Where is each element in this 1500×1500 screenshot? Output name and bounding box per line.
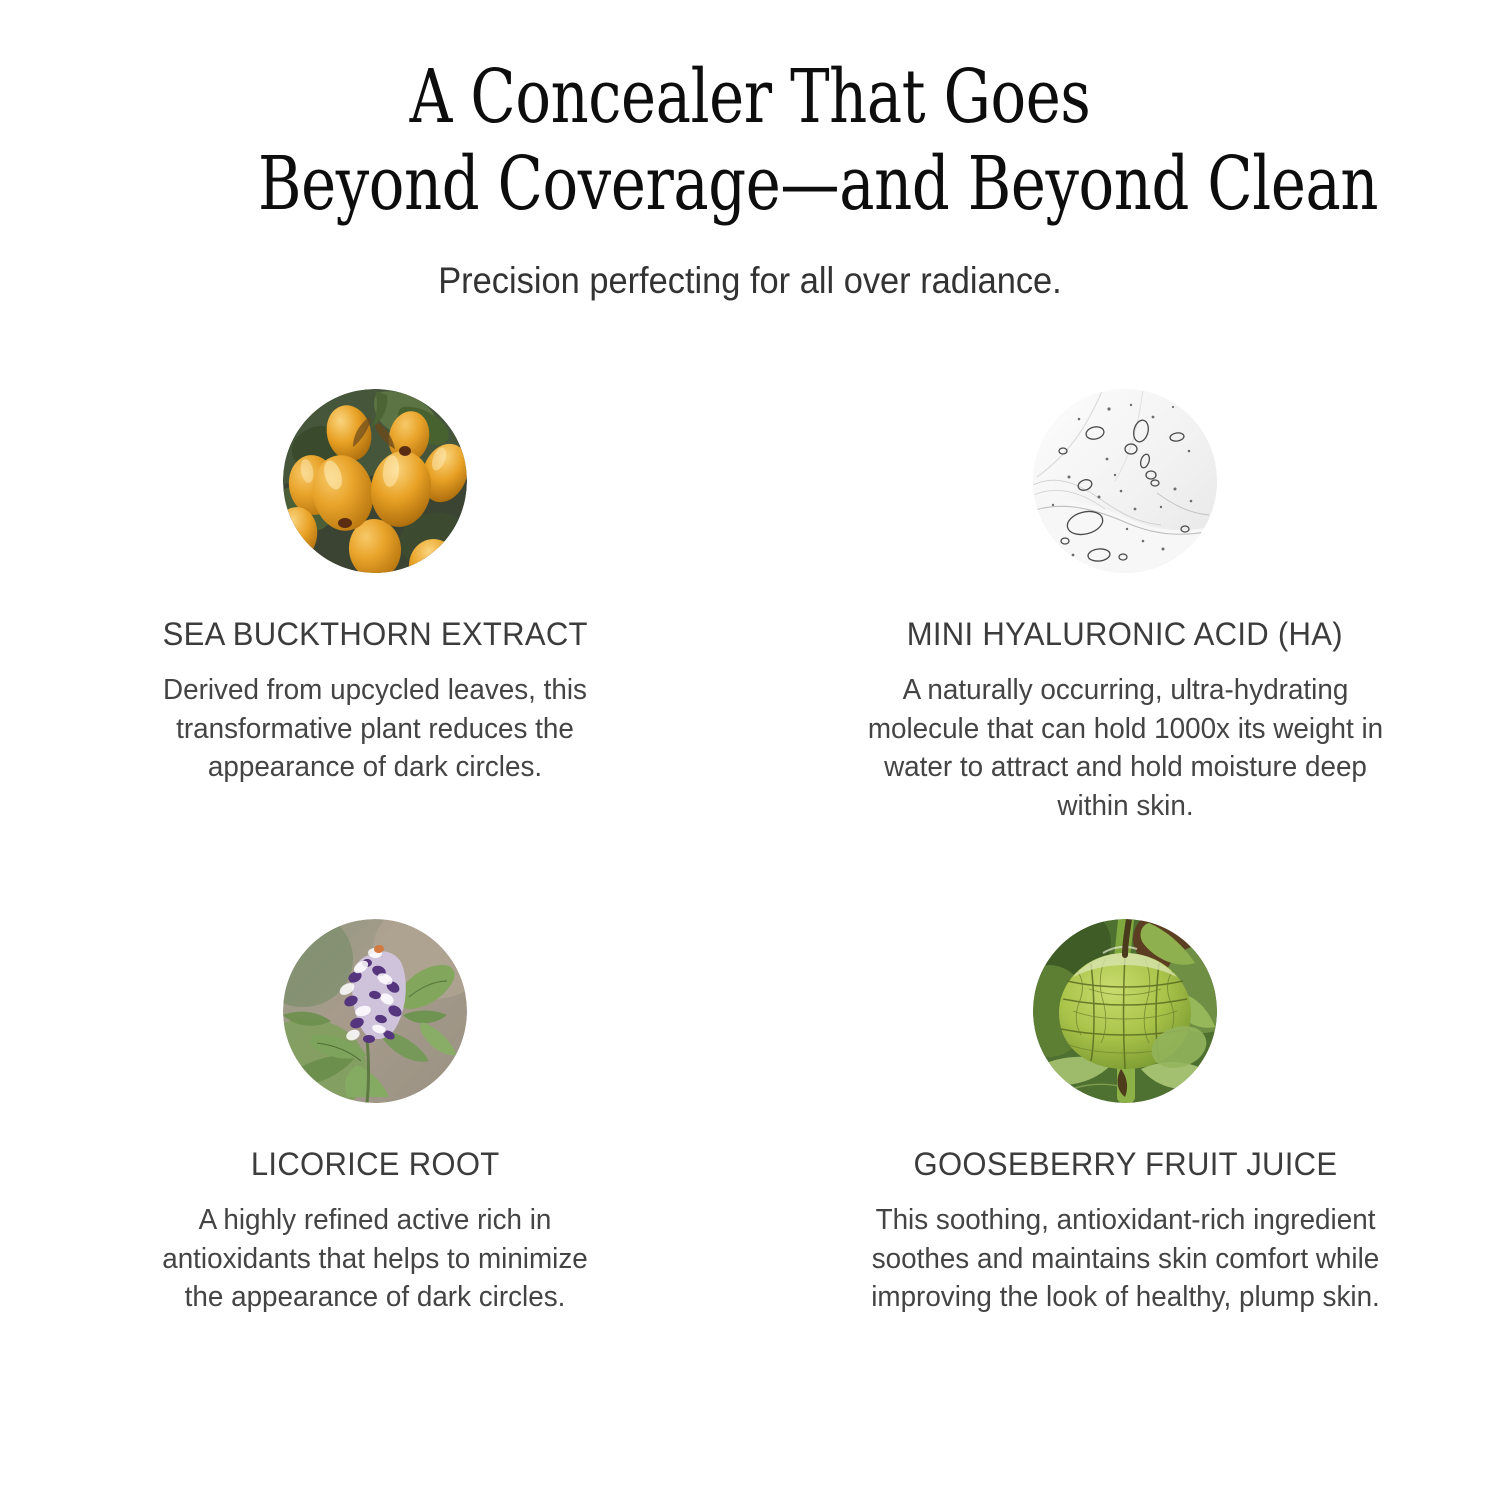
ingredient-card-licorice-root: LICORICE ROOT A highly refined active ri… xyxy=(0,910,750,1440)
ingredient-grid: SEA BUCKTHORN EXTRACT Derived from upcyc… xyxy=(0,380,1500,1440)
licorice-root-flower-photo xyxy=(283,919,467,1103)
ingredient-card-sea-buckthorn: SEA BUCKTHORN EXTRACT Derived from upcyc… xyxy=(0,380,750,910)
ingredient-card-hyaluronic-acid: MINI HYALURONIC ACID (HA) A naturally oc… xyxy=(750,380,1500,910)
ingredient-benefits-page: A Concealer That Goes Beyond Coverage—an… xyxy=(0,0,1500,1500)
page-subtitle: Precision perfecting for all over radian… xyxy=(53,259,1448,303)
page-title-line-2: Beyond Coverage—and Beyond Clean xyxy=(258,141,1242,228)
sea-buckthorn-berries-photo xyxy=(283,389,467,573)
ingredient-title: GOOSEBERRY FRUIT JUICE xyxy=(913,1147,1337,1182)
ingredient-description: A naturally occurring, ultra-hydrating m… xyxy=(863,671,1386,825)
ingredient-title: SEA BUCKTHORN EXTRACT xyxy=(162,617,587,652)
ingredient-title: MINI HYALURONIC ACID (HA) xyxy=(907,617,1343,652)
ingredient-description: A highly refined active rich in antioxid… xyxy=(140,1201,610,1317)
page-header: A Concealer That Goes Beyond Coverage—an… xyxy=(0,0,1500,303)
ingredient-title: LICORICE ROOT xyxy=(251,1147,500,1182)
page-title: A Concealer That Goes Beyond Coverage—an… xyxy=(258,54,1242,229)
ingredient-description: This soothing, antioxidant-rich ingredie… xyxy=(863,1201,1386,1317)
page-title-line-1: A Concealer That Goes xyxy=(258,54,1242,141)
ingredient-description: Derived from upcycled leaves, this trans… xyxy=(140,671,610,787)
ingredient-card-gooseberry: GOOSEBERRY FRUIT JUICE This soothing, an… xyxy=(750,910,1500,1440)
gooseberry-husk-fruit-photo xyxy=(1033,919,1217,1103)
hyaluronic-acid-gel-texture-photo xyxy=(1033,389,1217,573)
